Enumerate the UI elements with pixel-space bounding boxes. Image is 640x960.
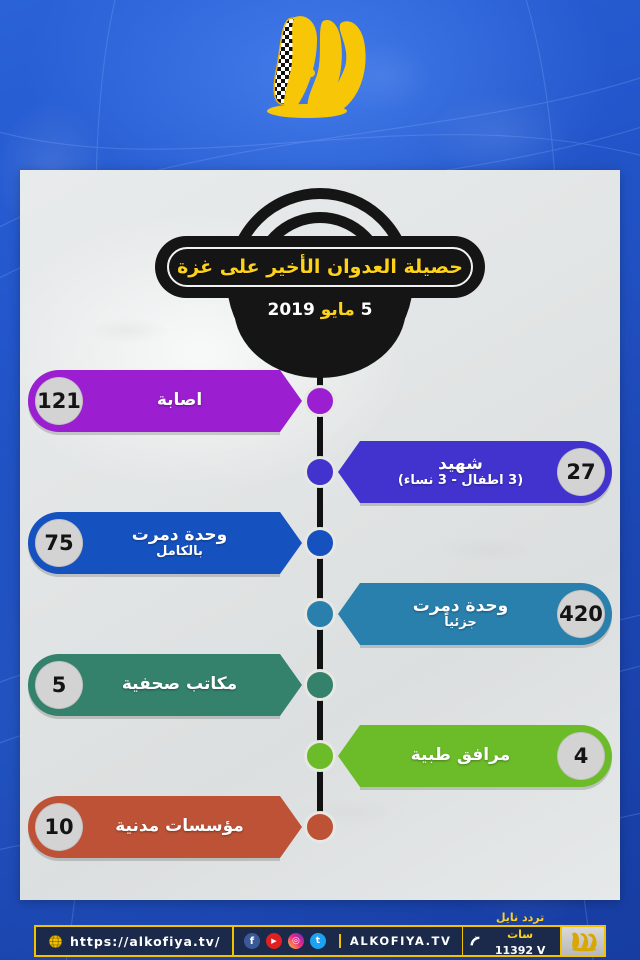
banner-arrow <box>338 583 360 645</box>
banner-arrow <box>338 441 360 503</box>
stat-label: شهيد <box>372 455 549 474</box>
stat-value: 10 <box>35 803 83 851</box>
channel-logo <box>0 6 640 136</box>
infographic-card: حصيلة العدوان الأخير على غزة 5 مايو 2019… <box>20 170 620 900</box>
stat-labels: شهيد(3 اطفال - 3 نساء) <box>364 455 557 489</box>
date-year: 2019 <box>268 300 315 320</box>
stat-labels: مرافق طبية <box>364 746 557 765</box>
stat-sublabel: جزئياً <box>372 616 549 631</box>
footer-social: f ▶ ◎ t ALKOFIYA.TV <box>234 927 462 955</box>
date-line: 5 مايو 2019 <box>155 300 485 320</box>
stat-labels: مؤسسات مدنية <box>83 817 276 836</box>
stat-row: 27شهيد(3 اطفال - 3 نساء) <box>20 441 620 511</box>
timeline-node <box>304 740 336 772</box>
stat-banner[interactable]: 5مكاتب صحفية <box>28 654 280 716</box>
stat-labels: وحدة دمرتبالكامل <box>83 526 276 560</box>
alkofiya-small-logo-icon <box>566 929 600 953</box>
stat-row: 75وحدة دمرتبالكامل <box>20 512 620 582</box>
timeline-node <box>304 385 336 417</box>
facebook-icon[interactable]: f <box>244 933 260 949</box>
stat-banner[interactable]: 75وحدة دمرتبالكامل <box>28 512 280 574</box>
stat-value: 4 <box>557 732 605 780</box>
date-day: 5 <box>361 300 373 320</box>
footer-website[interactable]: https://alkofiya.tv/ <box>36 927 232 955</box>
stat-banner[interactable]: 10مؤسسات مدنية <box>28 796 280 858</box>
stat-row: 5مكاتب صحفية <box>20 654 620 724</box>
stat-label: اصابة <box>91 391 268 410</box>
stat-row: 4مرافق طبية <box>20 725 620 795</box>
footer-logo <box>562 927 604 955</box>
title-pill-border: حصيلة العدوان الأخير على غزة <box>167 247 473 287</box>
stat-labels: اصابة <box>83 391 276 410</box>
page-title: حصيلة العدوان الأخير على غزة <box>177 256 463 278</box>
stat-label: مرافق طبية <box>372 746 549 765</box>
stat-sublabel: (3 اطفال - 3 نساء) <box>372 474 549 489</box>
stat-row: 121اصابة <box>20 370 620 440</box>
youtube-icon[interactable]: ▶ <box>266 933 282 949</box>
timeline-node <box>304 527 336 559</box>
twitter-icon[interactable]: t <box>310 933 326 949</box>
globe-icon <box>48 934 63 949</box>
banner-arrow <box>280 654 302 716</box>
frequency-label: تردد نايل سات <box>496 911 544 940</box>
stat-row: 420وحدة دمرتجزئياً <box>20 583 620 653</box>
timeline-node <box>304 598 336 630</box>
timeline-node <box>304 811 336 843</box>
title-badge: حصيلة العدوان الأخير على غزة 5 مايو 2019 <box>155 180 485 350</box>
stat-value: 420 <box>557 590 605 638</box>
title-pill: حصيلة العدوان الأخير على غزة <box>155 236 485 298</box>
instagram-icon[interactable]: ◎ <box>288 933 304 949</box>
brand-name: ALKOFIYA.TV <box>339 934 452 948</box>
banner-arrow <box>280 512 302 574</box>
timeline-node <box>304 456 336 488</box>
stat-value: 75 <box>35 519 83 567</box>
stat-banner[interactable]: 4مرافق طبية <box>360 725 612 787</box>
date-month: مايو <box>321 300 355 320</box>
website-url: https://alkofiya.tv/ <box>70 934 220 949</box>
frequency-text: تردد نايل سات 11392 V 27500 <box>486 908 555 960</box>
stat-banner[interactable]: 27شهيد(3 اطفال - 3 نساء) <box>360 441 612 503</box>
stat-sublabel: بالكامل <box>91 545 268 560</box>
satellite-dish-icon <box>469 933 481 949</box>
stat-banner[interactable]: 420وحدة دمرتجزئياً <box>360 583 612 645</box>
stat-value: 27 <box>557 448 605 496</box>
banner-arrow <box>338 725 360 787</box>
frequency-value: 11392 V 27500 <box>495 944 546 960</box>
timeline-node <box>304 669 336 701</box>
stat-label: مؤسسات مدنية <box>91 817 268 836</box>
header <box>0 0 640 170</box>
stat-banner[interactable]: 121اصابة <box>28 370 280 432</box>
stat-value: 121 <box>35 377 83 425</box>
stat-row: 10مؤسسات مدنية <box>20 796 620 866</box>
banner-arrow <box>280 370 302 432</box>
alkofiya-logo-icon <box>245 11 395 131</box>
banner-arrow <box>280 796 302 858</box>
stat-label: وحدة دمرت <box>91 526 268 545</box>
footer-frequency: تردد نايل سات 11392 V 27500 <box>463 927 560 955</box>
footer-bar: https://alkofiya.tv/ f ▶ ◎ t ALKOFIYA.TV… <box>34 925 606 957</box>
stat-value: 5 <box>35 661 83 709</box>
stat-labels: مكاتب صحفية <box>83 675 276 694</box>
stat-labels: وحدة دمرتجزئياً <box>364 597 557 631</box>
stat-label: وحدة دمرت <box>372 597 549 616</box>
stat-label: مكاتب صحفية <box>91 675 268 694</box>
